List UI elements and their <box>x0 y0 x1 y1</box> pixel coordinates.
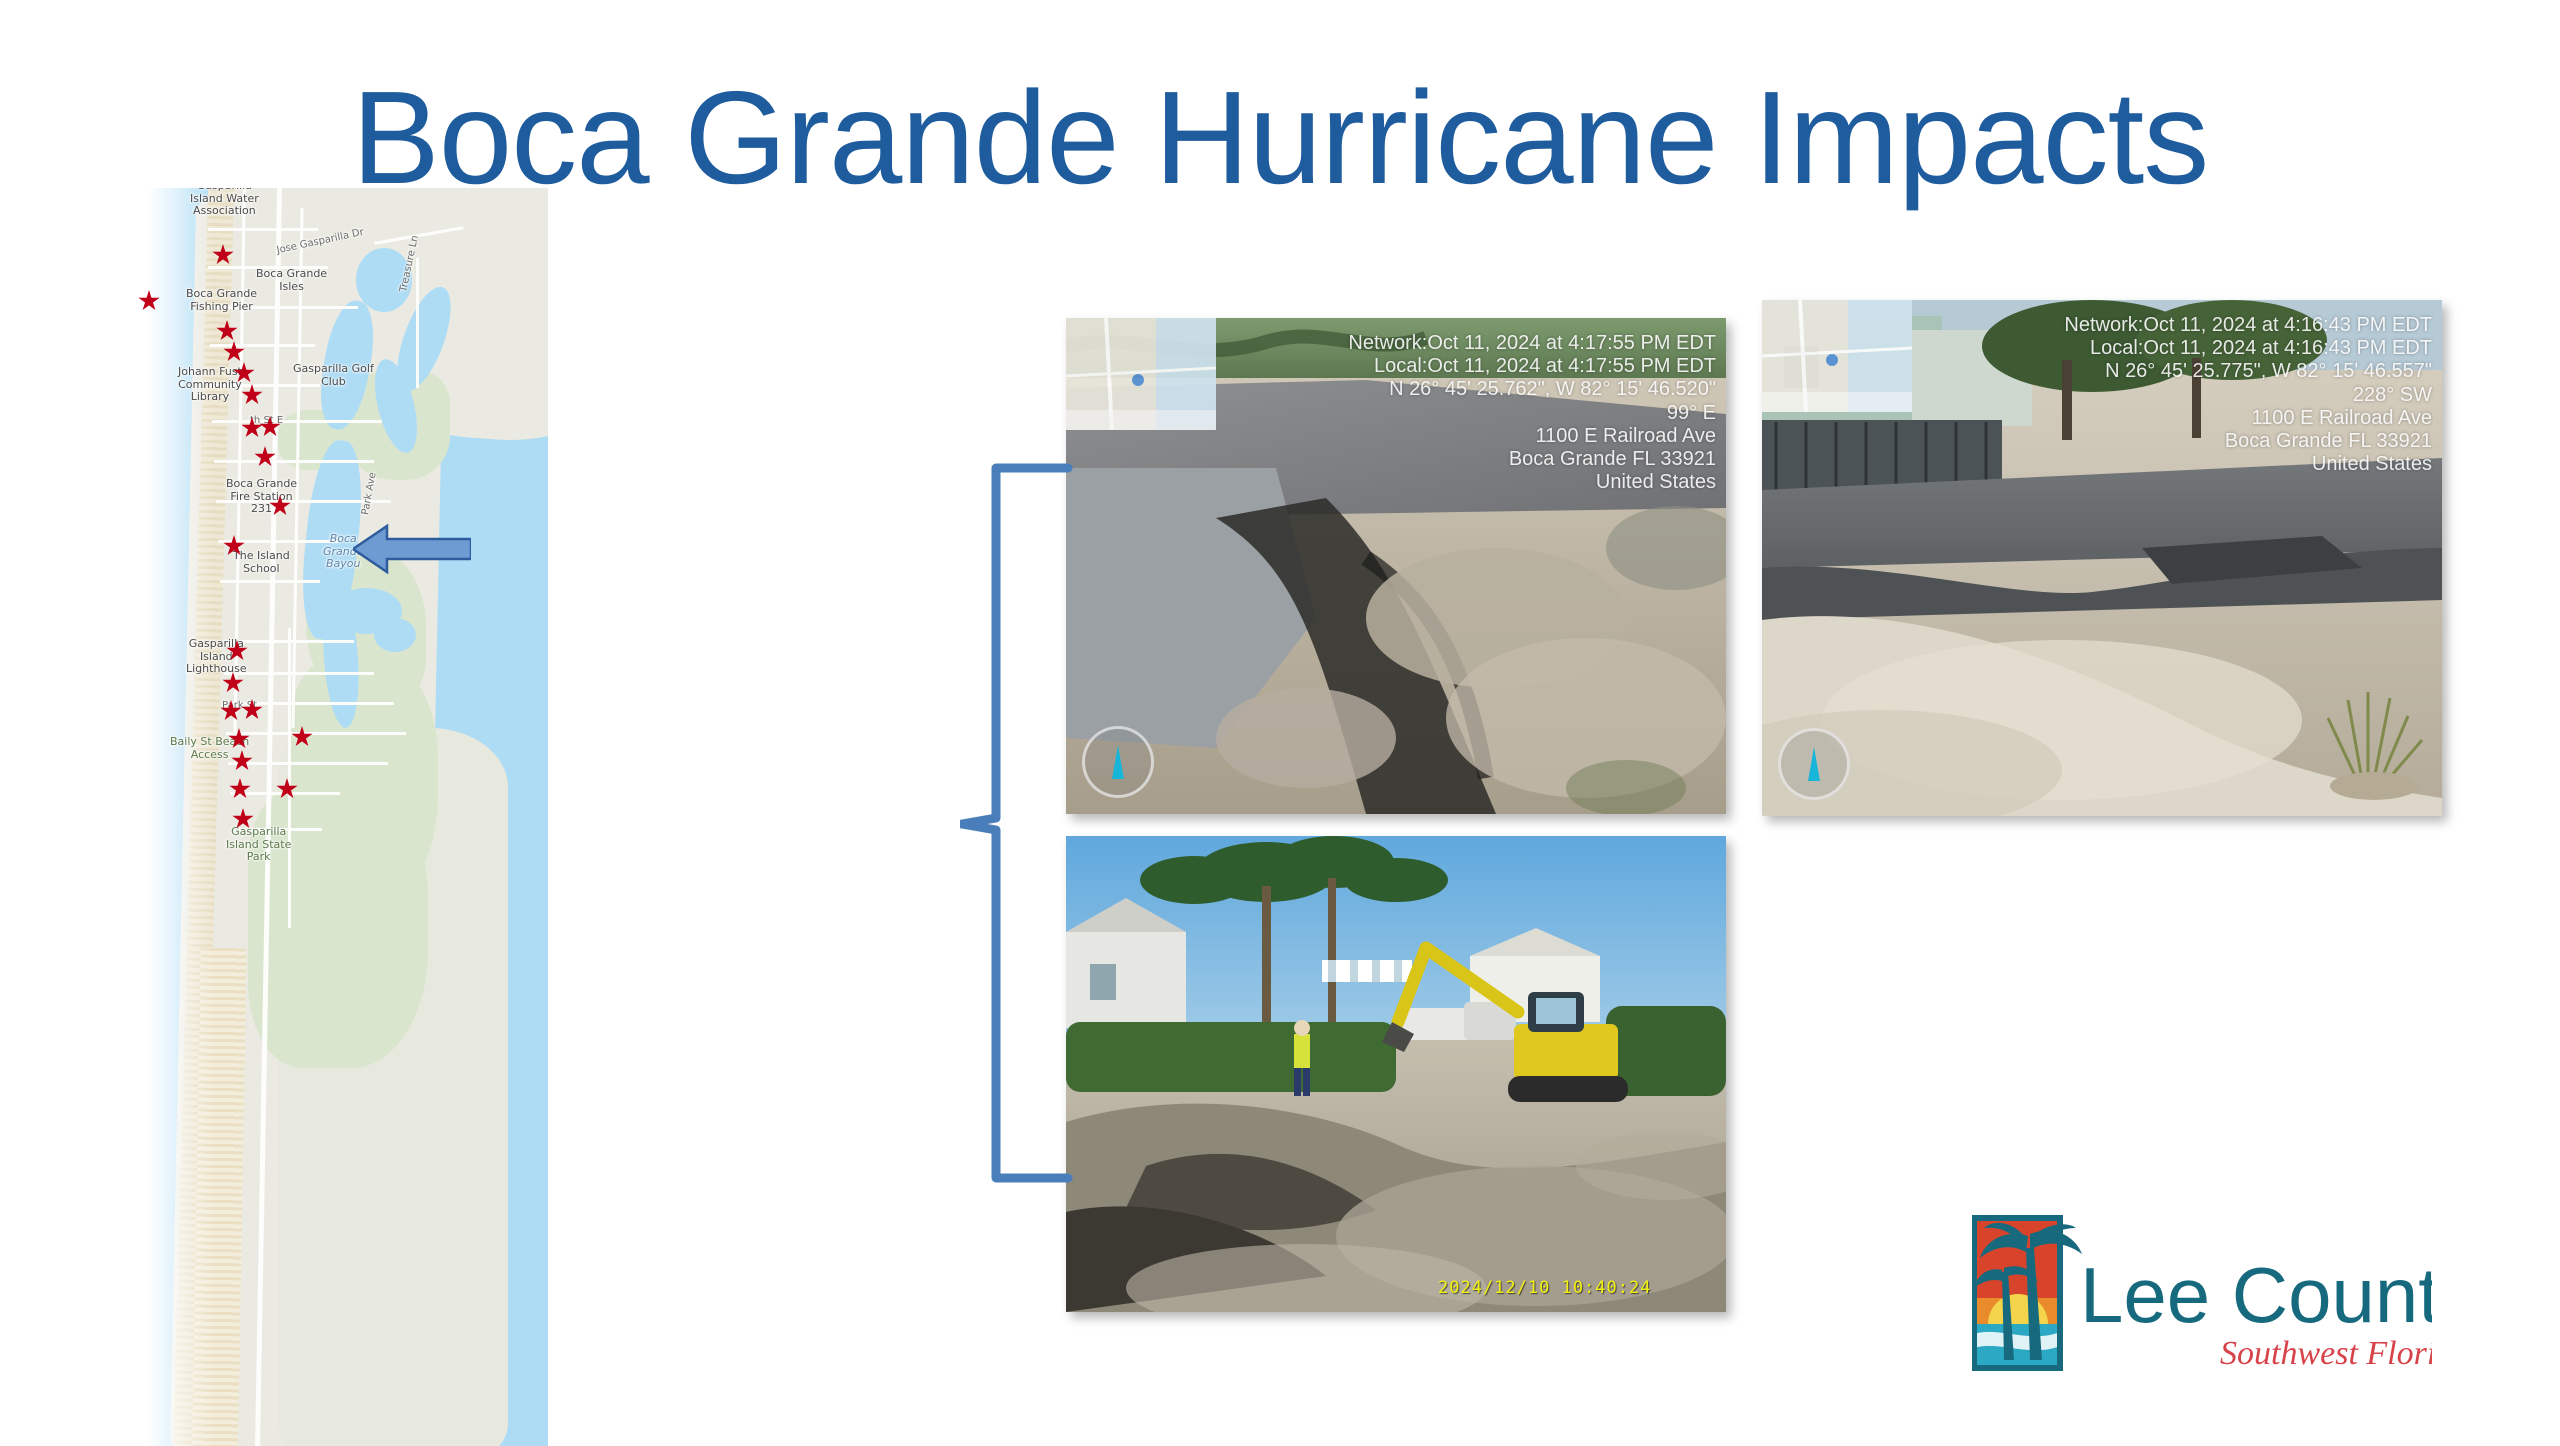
grouping-bracket <box>960 462 1080 1184</box>
photo2-minimap <box>1762 300 1912 412</box>
map-label-5: Johann Fust Community Library <box>178 366 242 404</box>
map-cross-street-10 <box>220 580 320 583</box>
photo1-gps-overlay: Network:Oct 11, 2024 at 4:17:55 PM EDT L… <box>1348 332 1716 494</box>
map-road-gasparilla-rd <box>288 628 291 928</box>
photo-road-collapse[interactable]: Network:Oct 11, 2024 at 4:17:55 PM EDT L… <box>1066 318 1726 814</box>
map-canvas: Gasparilla Island Water AssociationJose … <box>128 188 548 1446</box>
map-label-4: Boca Grande Fishing Pier <box>186 288 257 313</box>
photo-excavator-repair[interactable]: 2024/12/10 10:40:24 <box>1066 836 1726 1312</box>
left-arrow-icon <box>353 523 471 575</box>
logo-wordmark: Lee County <box>2080 1251 2432 1339</box>
map-cross-street-15 <box>228 762 388 765</box>
photo2-gps-overlay: Network:Oct 11, 2024 at 4:16:43 PM EDT L… <box>2064 314 2432 476</box>
map-cross-street-7 <box>214 460 374 463</box>
gasparilla-island-map[interactable]: Gasparilla Island Water AssociationJose … <box>128 188 548 1446</box>
photo1-minimap <box>1066 318 1216 430</box>
map-label-3: Boca Grande Isles <box>256 268 327 293</box>
photo1-compass-icon <box>1082 726 1154 798</box>
lee-county-logo[interactable]: Lee County Southwest Florida <box>1972 1212 2432 1392</box>
map-golf-pond-2 <box>374 618 416 652</box>
page-title: Boca Grande Hurricane Impacts <box>0 72 2560 204</box>
map-label-10: The Island School <box>233 550 290 575</box>
photo-washed-out-road[interactable]: Network:Oct 11, 2024 at 4:16:43 PM EDT L… <box>1762 300 2442 816</box>
map-label-6: Gasparilla Golf Club <box>293 363 374 388</box>
logo-tagline: Southwest Florida <box>2220 1335 2432 1372</box>
photo3-scene <box>1066 836 1726 1312</box>
map-label-0: Gasparilla Island Water Association <box>190 188 259 218</box>
map-label-15: Gasparilla Island State Park <box>226 826 291 864</box>
map-label-9: Boca Grande Fire Station 231 <box>226 478 297 516</box>
map-cross-street-4 <box>210 344 315 347</box>
map-road-treasure-ln <box>416 258 419 388</box>
photo2-compass-icon <box>1778 728 1850 800</box>
map-cross-street-1 <box>208 228 318 231</box>
map-cross-street-14 <box>226 732 406 735</box>
photo3-timestamp: 2024/12/10 10:40:24 <box>1438 1278 1651 1298</box>
map-cross-street-6 <box>212 420 382 423</box>
